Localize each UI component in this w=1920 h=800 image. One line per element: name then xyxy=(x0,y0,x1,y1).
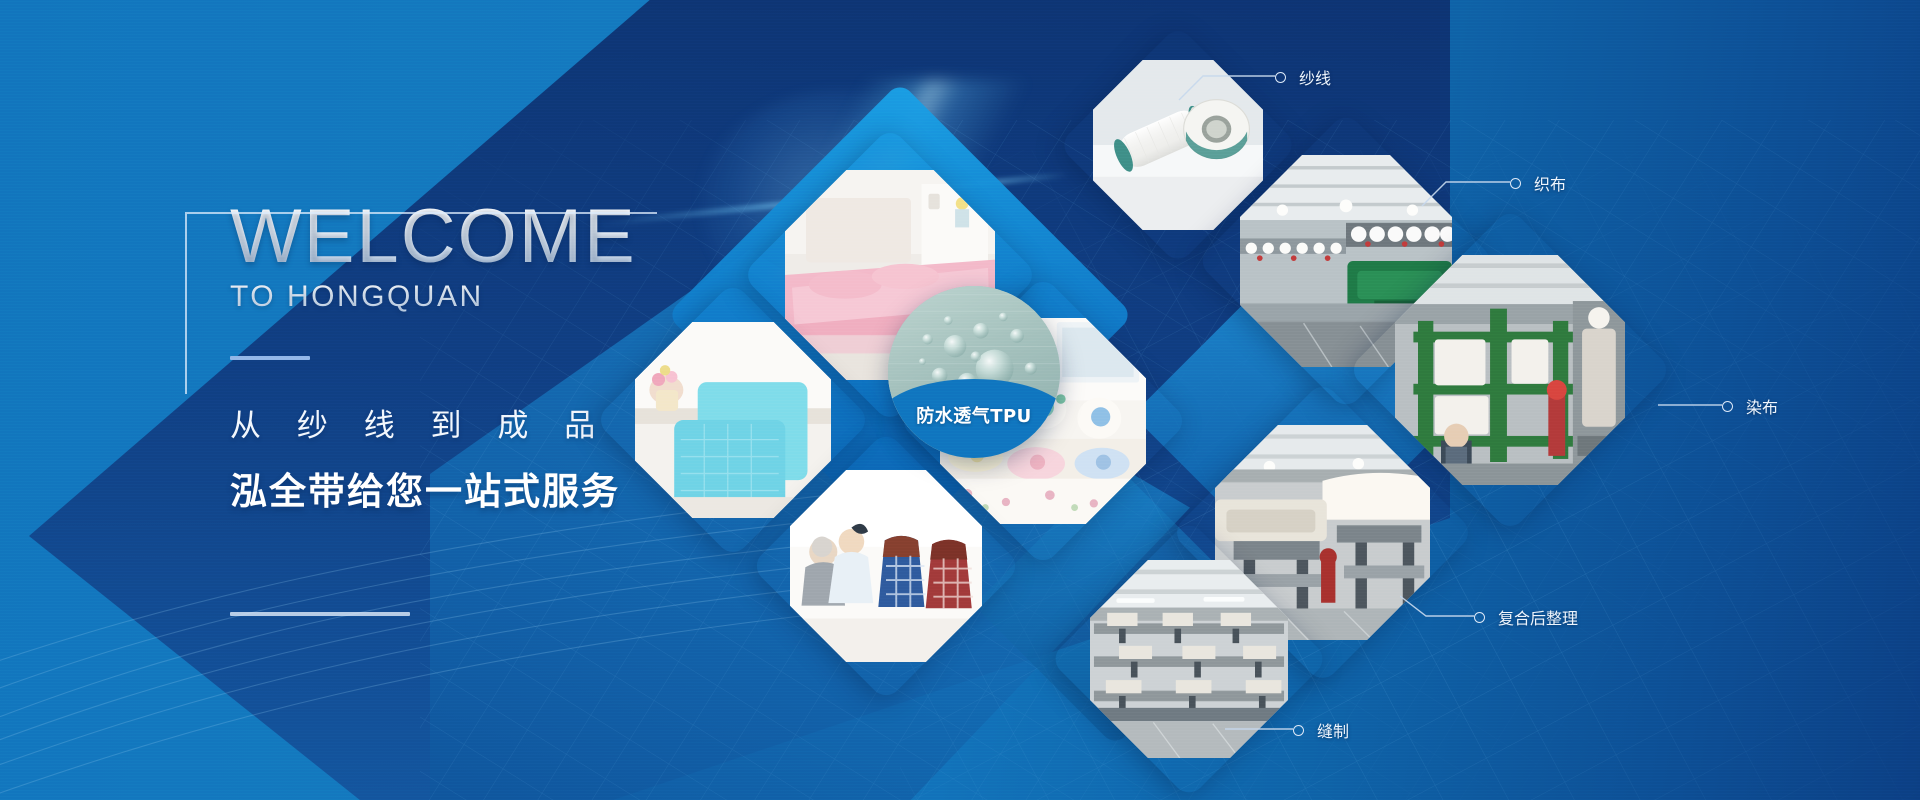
callout-label-sewing: 缝制 xyxy=(1317,718,1349,742)
apparel-illustration xyxy=(790,470,982,662)
callout-yarn: 纱线 xyxy=(1175,52,1435,112)
leader-line-sewing xyxy=(1225,705,1505,765)
callout-dot-weaving xyxy=(1510,178,1521,189)
center-badge[interactable]: 防水透气TPU xyxy=(888,286,1060,458)
callout-weaving: 织布 xyxy=(1400,140,1680,220)
callout-label-finishing: 复合后整理 xyxy=(1498,605,1578,629)
welcome-banner: WELCOME TO HONGQUAN 从 纱 线 到 成 品 泓全带给您一站式… xyxy=(0,0,1920,800)
callout-label-dyeing: 染布 xyxy=(1746,394,1778,418)
callout-label-weaving: 织布 xyxy=(1534,171,1566,195)
corner-bracket-decoration xyxy=(185,212,657,394)
callout-dyeing: 染布 xyxy=(1640,380,1920,440)
callout-dot-yarn xyxy=(1275,72,1286,83)
pillows-photo xyxy=(635,322,831,518)
pillows-illustration xyxy=(635,322,831,518)
callout-dot-finishing xyxy=(1474,612,1485,623)
callout-dot-dyeing xyxy=(1722,401,1733,412)
badge-label: 防水透气TPU xyxy=(888,402,1060,428)
callout-label-yarn: 纱线 xyxy=(1299,65,1331,89)
callout-finishing: 复合后整理 xyxy=(1400,592,1720,652)
leader-line-dyeing xyxy=(1640,380,1920,440)
callout-dot-sewing xyxy=(1293,725,1304,736)
divider-long xyxy=(230,612,410,616)
apparel-photo xyxy=(790,470,982,662)
dyeing-machine-icon xyxy=(1395,255,1625,485)
callout-sewing: 缝制 xyxy=(1225,705,1505,765)
